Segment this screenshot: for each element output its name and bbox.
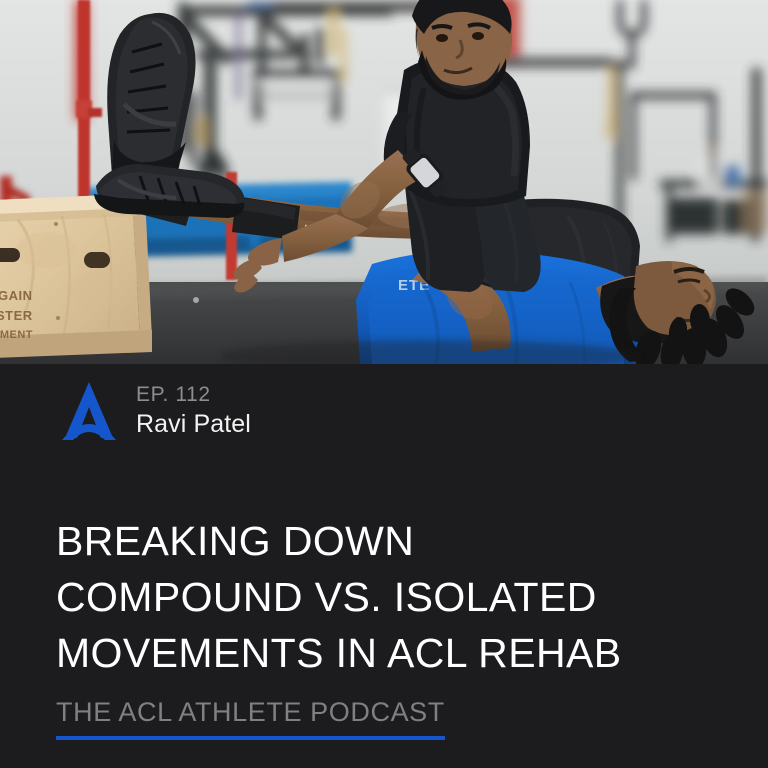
svg-text:GAIN: GAIN xyxy=(0,288,33,303)
svg-text:PMENT: PMENT xyxy=(0,329,33,341)
show-name: THE ACL ATHLETE PODCAST xyxy=(56,697,445,740)
episode-number: EP. 112 xyxy=(136,382,251,408)
episode-meta: EP. 112 Ravi Patel xyxy=(136,382,251,440)
title-line-3: MOVEMENTS IN ACL REHAB xyxy=(56,625,706,681)
guest-name: Ravi Patel xyxy=(136,409,251,440)
title-line-1: BREAKING DOWN xyxy=(56,513,706,569)
podcast-cover-image: GAIN STER PMENT xyxy=(0,0,768,768)
show-name-container: THE ACL ATHLETE PODCAST xyxy=(56,697,445,740)
acl-athlete-chevron-icon xyxy=(56,378,122,444)
svg-text:STER: STER xyxy=(0,308,33,323)
title-line-2: COMPOUND VS. ISOLATED xyxy=(56,569,706,625)
episode-photo: GAIN STER PMENT xyxy=(0,0,768,364)
episode-header: EP. 112 Ravi Patel xyxy=(56,378,251,444)
episode-info-panel: EP. 112 Ravi Patel BREAKING DOWN COMPOUN… xyxy=(0,364,768,768)
episode-title: BREAKING DOWN COMPOUND VS. ISOLATED MOVE… xyxy=(56,513,706,681)
